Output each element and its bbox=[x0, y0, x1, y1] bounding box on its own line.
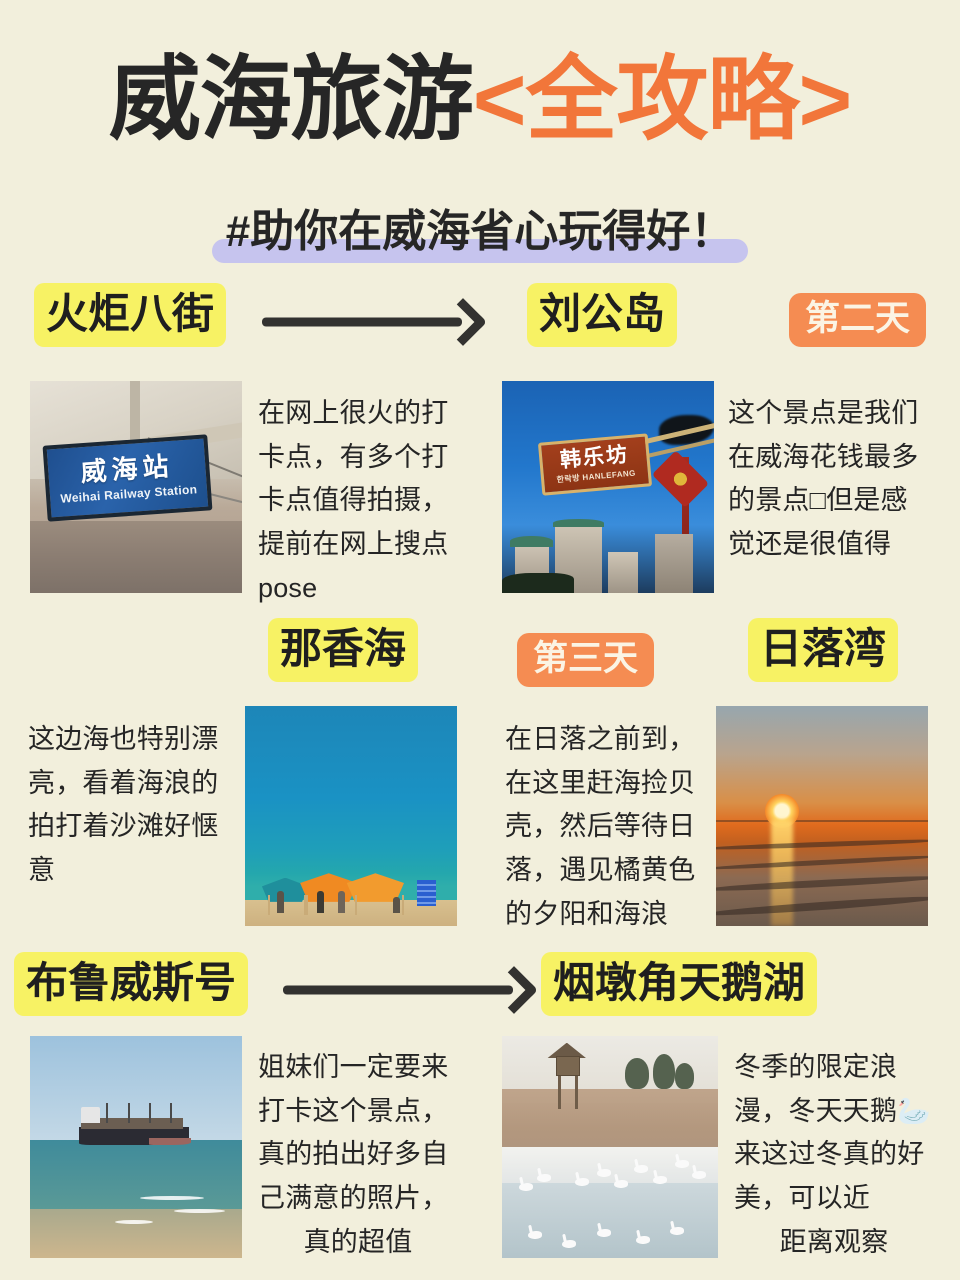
subtitle-wrapper: #助你在威海省心玩得好！ bbox=[0, 193, 960, 263]
badge-day-three: 第三天 bbox=[517, 633, 654, 687]
badge-day-two: 第二天 bbox=[789, 293, 926, 347]
hanlefang-sign: 韩乐坊 한락방 HANLEFANG bbox=[538, 434, 652, 496]
heading-naxianghai: 那香海 bbox=[268, 628, 418, 670]
text-yandunjiao: 冬季的限定浪漫，冬天天鹅🦢来这过冬真的好美，可以近 距离观察 bbox=[734, 1046, 934, 1265]
subtitle-text: #助你在威海省心玩得好！ bbox=[226, 207, 734, 256]
photo-sunset-sea bbox=[716, 706, 928, 926]
arrow-right-icon-2 bbox=[283, 968, 531, 1012]
photo-hanlefang-sign: 韩乐坊 한락방 HANLEFANG bbox=[502, 381, 714, 593]
heading-liugongdao: 刘公岛 bbox=[527, 293, 677, 335]
text-riluowan: 在日落之前到，在这里赶海捡贝壳，然后等待日落，遇见橘黄色的夕阳和海浪 bbox=[505, 718, 705, 937]
poster-canvas: 威海旅游<全攻略> #助你在威海省心玩得好！ 火炬八街 刘公岛 第二天 威海站 … bbox=[0, 0, 960, 1280]
text-liugongdao: 这个景点是我们在威海花钱最多的景点□但是感觉还是很值得 bbox=[728, 392, 928, 567]
heading-riluowan: 日落湾 bbox=[748, 628, 898, 670]
page-title: 威海旅游<全攻略> bbox=[0, 52, 960, 149]
text-naxianghai: 这边海也特别漂亮，看着海浪的拍打着沙滩好惬意 bbox=[28, 718, 228, 893]
photo-weihai-railway-station: 威海站 Weihai Railway Station bbox=[30, 381, 242, 593]
text-bruwisi: 姐妹们一定要来打卡这个景点，真的拍出好多自己满意的照片， 真的超值 bbox=[258, 1046, 458, 1265]
photo-cargo-ship bbox=[30, 1036, 242, 1258]
station-sign-en: Weihai Railway Station bbox=[60, 482, 198, 506]
heading-huojubajie: 火炬八街 bbox=[34, 293, 226, 335]
heading-yandunjiao: 烟墩角天鹅湖 bbox=[541, 962, 817, 1004]
title-accent: <全攻略> bbox=[473, 49, 851, 151]
subtitle: #助你在威海省心玩得好！ bbox=[212, 193, 748, 263]
title-main: 威海旅游 bbox=[109, 49, 473, 151]
photo-swan-lake bbox=[502, 1036, 718, 1258]
heading-bruwisi: 布鲁威斯号 bbox=[14, 962, 248, 1004]
photo-beach-canopies bbox=[245, 706, 457, 926]
station-sign-cn: 威海站 bbox=[80, 453, 175, 485]
station-sign: 威海站 Weihai Railway Station bbox=[42, 435, 212, 523]
hanlefang-sign-cn: 韩乐坊 bbox=[559, 444, 630, 471]
text-huojubajie: 在网上很火的打卡点，有多个打卡点值得拍摄，提前在网上搜点pose bbox=[258, 392, 458, 611]
arrow-right-icon bbox=[262, 300, 480, 344]
